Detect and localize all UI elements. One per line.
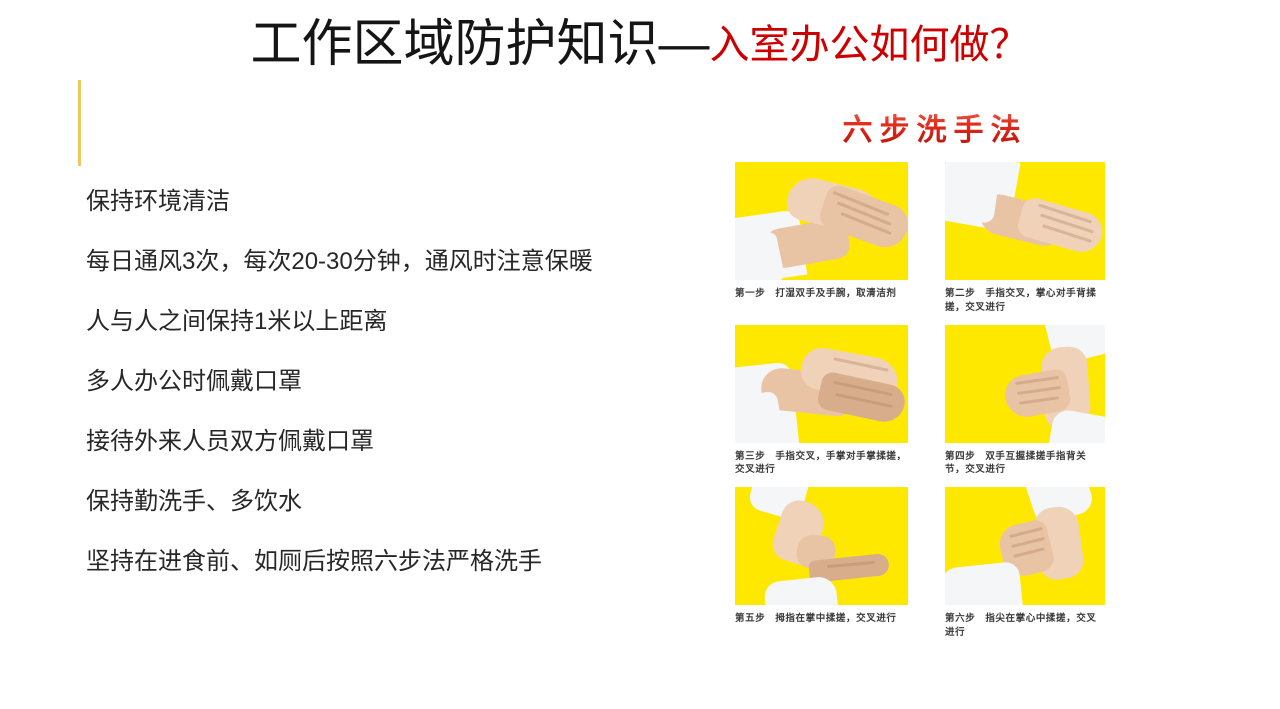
step-photo-6 [945,487,1105,605]
step-label: 第三步 [735,451,765,462]
accent-rule-divider [78,80,81,166]
list-item: 人与人之间保持1米以上距离 [86,310,706,334]
step-row: 第五步拇指在掌中揉搓，交叉进行 第六步指尖在掌心中揉搓，交叉进行 [735,487,1135,640]
step-photo-5 [735,487,908,605]
slide-canvas: 工作区域防护知识—入室办公如何做？ 保持环境清洁 每日通风3次，每次20-30分… [0,0,1280,709]
page-title: 工作区域防护知识—入室办公如何做？ [0,14,1280,73]
list-item: 多人办公时佩戴口罩 [86,370,706,394]
step-cell-3: 第三步手指交叉，手掌对手掌揉搓，交叉进行 [735,325,908,478]
guidelines-list: 保持环境清洁 每日通风3次，每次20-30分钟，通风时注意保暖 人与人之间保持1… [86,190,706,574]
page-title-main: 工作区域防护知识 [250,15,658,72]
step-cell-1: 第一步打湿双手及手腕，取清洁剂 [735,162,908,315]
step-cell-2: 第二步手指交叉，掌心对手背揉搓，交叉进行 [945,162,1105,315]
poster-heading: 六步洗手法 [735,105,1135,149]
step-row: 第三步手指交叉，手掌对手掌揉搓，交叉进行 第四步双手互握揉搓手指背关 [735,325,1135,478]
step-cell-6: 第六步指尖在掌心中揉搓，交叉进行 [945,487,1105,640]
handwash-poster: 六步洗手法 第一步打湿双手及手腕，取清洁 [735,100,1135,700]
list-item: 保持勤洗手、多饮水 [86,490,706,514]
step-label: 第六步 [945,613,975,624]
step-photo-1 [735,162,908,280]
list-item: 每日通风3次，每次20-30分钟，通风时注意保暖 [86,250,706,274]
handwash-step-grid: 第一步打湿双手及手腕，取清洁剂 第二步手指交叉，掌心对手背揉搓，交叉 [735,162,1135,650]
step-caption-1: 第一步打湿双手及手腕，取清洁剂 [735,287,908,301]
list-item: 保持环境清洁 [86,190,706,214]
step-label: 第一步 [735,288,765,299]
step-caption-4: 第四步双手互握揉搓手指背关节，交叉进行 [945,450,1105,478]
step-text: 拇指在掌中揉搓，交叉进行 [775,613,896,624]
step-cell-4: 第四步双手互握揉搓手指背关节，交叉进行 [945,325,1105,478]
step-caption-6: 第六步指尖在掌心中揉搓，交叉进行 [945,612,1105,640]
step-photo-2 [945,162,1105,280]
step-photo-3 [735,325,908,443]
step-label: 第二步 [945,288,975,299]
step-caption-3: 第三步手指交叉，手掌对手掌揉搓，交叉进行 [735,450,908,478]
step-photo-4 [945,325,1105,443]
step-label: 第五步 [735,613,765,624]
step-cell-5: 第五步拇指在掌中揉搓，交叉进行 [735,487,908,640]
list-item: 接待外来人员双方佩戴口罩 [86,430,706,454]
list-item: 坚持在进食前、如厕后按照六步法严格洗手 [86,550,706,574]
step-caption-2: 第二步手指交叉，掌心对手背揉搓，交叉进行 [945,287,1105,315]
step-label: 第四步 [945,451,975,462]
step-row: 第一步打湿双手及手腕，取清洁剂 第二步手指交叉，掌心对手背揉搓，交叉 [735,162,1135,315]
page-title-accent: 入室办公如何做？ [710,23,1030,67]
step-caption-5: 第五步拇指在掌中揉搓，交叉进行 [735,612,908,626]
step-text: 打湿双手及手腕，取清洁剂 [775,288,896,299]
page-title-dash: — [659,15,710,72]
